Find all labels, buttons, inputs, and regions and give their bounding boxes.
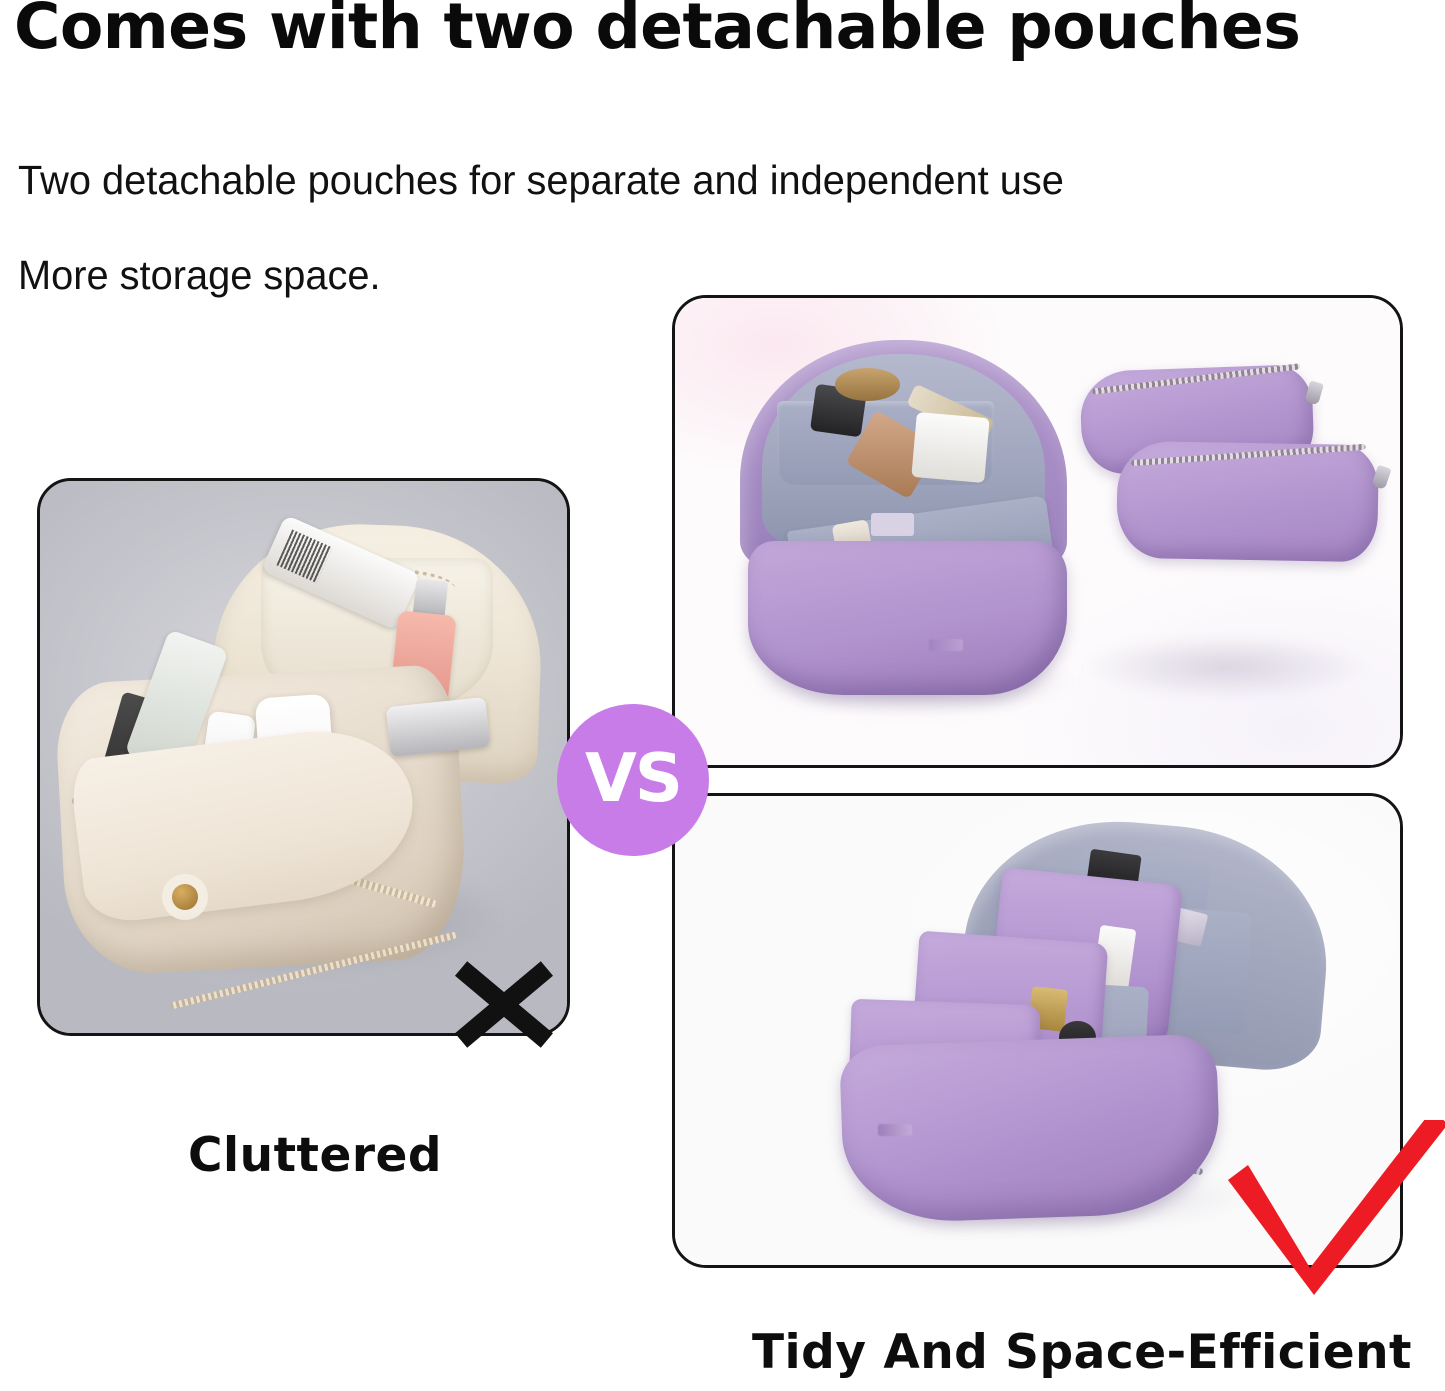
vs-badge-label: VS [585, 745, 681, 812]
snap-button [172, 884, 198, 910]
gold-compact [835, 368, 900, 401]
subtitle-line-2: More storage space. [18, 255, 381, 296]
vs-badge: VS [557, 704, 709, 856]
cluttered-photo-panel [37, 478, 570, 1036]
page-title: Comes with two detachable pouches [14, 0, 1441, 61]
pouch-zipper [1131, 444, 1366, 466]
tidy-photo [675, 796, 1400, 1265]
brand-logo [878, 1124, 912, 1136]
tidy-photo-panel [672, 793, 1403, 1268]
white-carton [912, 412, 990, 483]
tidy-caption: Tidy And Space-Efficient [752, 1325, 1412, 1380]
x-mark-icon [456, 958, 552, 1050]
cluttered-caption: Cluttered [188, 1128, 442, 1183]
detachable-pouch-2 [1116, 440, 1379, 561]
silver-tube [385, 697, 490, 757]
detachable-pouches-photo-panel [672, 295, 1403, 768]
small-jar [871, 513, 915, 536]
bag-body [748, 541, 1067, 695]
pouches-shadow [1081, 634, 1371, 699]
detachable-pouches-photo [675, 298, 1400, 765]
brand-logo [929, 639, 963, 651]
subtitle-line-1: Two detachable pouches for separate and … [18, 160, 1064, 201]
cluttered-photo [40, 481, 567, 1033]
